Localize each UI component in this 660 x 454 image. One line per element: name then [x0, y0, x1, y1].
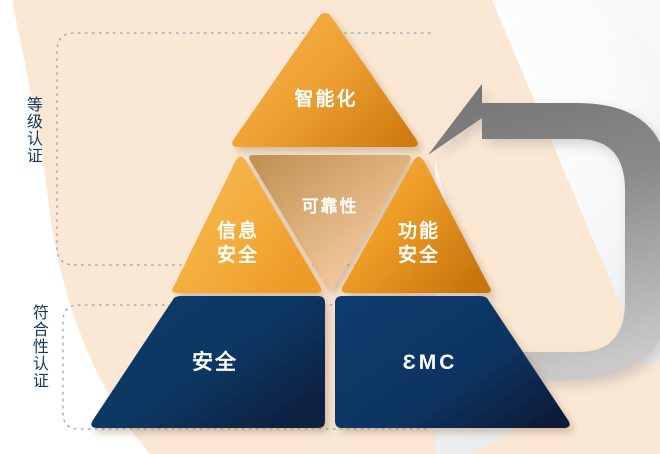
diagram-canvas: 等级认证 符合性认证 智能化 可靠性 信息 安全 功能 安全 安全 ƐMC [0, 0, 660, 454]
block-emc[interactable] [335, 296, 570, 428]
side-label-compliance-certification: 符合性认证 [28, 304, 47, 389]
block-intelligence[interactable] [232, 13, 418, 147]
pyramid-layer [0, 0, 660, 454]
side-label-grade-certification: 等级认证 [22, 96, 41, 164]
block-safety[interactable] [91, 296, 325, 428]
